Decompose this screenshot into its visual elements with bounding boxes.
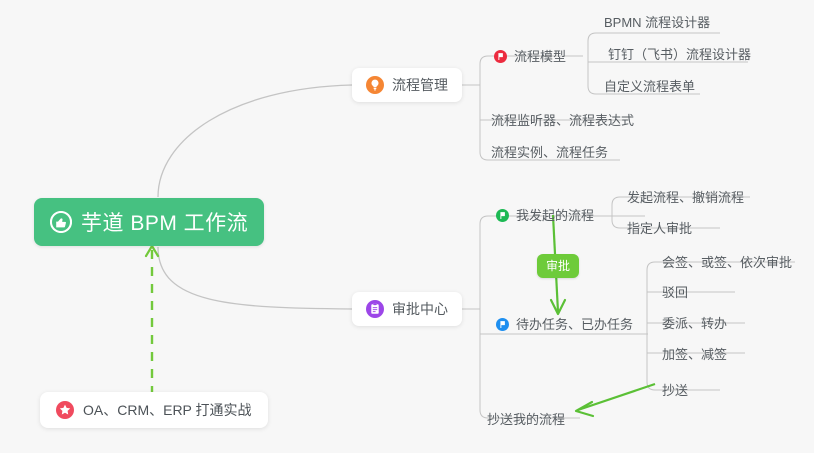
node-cc[interactable]: 抄送 bbox=[662, 380, 688, 400]
node-bpmn-designer[interactable]: BPMN 流程设计器 bbox=[604, 12, 710, 32]
branch-process-management-label: 流程管理 bbox=[392, 75, 448, 95]
node-my-initiated-processes[interactable]: 我发起的流程 bbox=[496, 205, 594, 225]
node-add-remove-signers[interactable]: 加签、减签 bbox=[662, 344, 727, 364]
node-reject[interactable]: 驳回 bbox=[662, 282, 688, 302]
node-delegate-transfer[interactable]: 委派、转办 bbox=[662, 313, 727, 333]
node-listener-expression[interactable]: 流程监听器、流程表达式 bbox=[491, 110, 634, 130]
node-start-cancel-process-label: 发起流程、撤销流程 bbox=[627, 191, 744, 204]
wire-root-to-process-mgmt bbox=[158, 85, 352, 197]
arrowhead-initiated-to-todo bbox=[551, 300, 565, 314]
node-custom-form-label: 自定义流程表单 bbox=[604, 80, 695, 93]
branch-approval-center-label: 审批中心 bbox=[392, 299, 448, 319]
node-designated-approver[interactable]: 指定人审批 bbox=[627, 218, 692, 238]
wire-todo-spine bbox=[647, 262, 655, 390]
root-node[interactable]: 芋道 BPM 工作流 bbox=[34, 198, 264, 246]
branch-approval-center[interactable]: 审批中心 bbox=[352, 292, 462, 326]
node-instance-task[interactable]: 流程实例、流程任务 bbox=[491, 142, 608, 162]
thumbs-up-icon bbox=[50, 211, 72, 233]
node-todo-done-tasks[interactable]: 待办任务、已办任务 bbox=[496, 314, 633, 334]
node-add-remove-signers-label: 加签、减签 bbox=[662, 348, 727, 361]
root-label: 芋道 BPM 工作流 bbox=[81, 207, 248, 237]
node-bpmn-designer-label: BPMN 流程设计器 bbox=[604, 16, 710, 29]
flag-icon bbox=[494, 50, 507, 63]
node-cc-label: 抄送 bbox=[662, 384, 688, 397]
node-cc-to-me-processes[interactable]: 抄送我的流程 bbox=[487, 409, 565, 429]
branch-process-management[interactable]: 流程管理 bbox=[352, 68, 462, 102]
node-sign-modes-label: 会签、或签、依次审批 bbox=[662, 256, 792, 269]
wire-mine-spine bbox=[612, 197, 620, 228]
lightbulb-icon bbox=[366, 76, 384, 94]
node-cc-to-me-processes-label: 抄送我的流程 bbox=[487, 413, 565, 426]
node-process-model-label: 流程模型 bbox=[514, 50, 566, 63]
node-dingtalk-feishu-designer[interactable]: 钉钉（飞书）流程设计器 bbox=[608, 44, 751, 64]
star-icon bbox=[56, 401, 74, 419]
node-start-cancel-process[interactable]: 发起流程、撤销流程 bbox=[627, 187, 744, 207]
node-listener-expression-label: 流程监听器、流程表达式 bbox=[491, 114, 634, 127]
node-sign-modes[interactable]: 会签、或签、依次审批 bbox=[662, 252, 792, 272]
node-instance-task-label: 流程实例、流程任务 bbox=[491, 146, 608, 159]
arrow-cc-to-cc-mine bbox=[578, 384, 655, 410]
node-my-initiated-processes-label: 我发起的流程 bbox=[516, 209, 594, 222]
mindmap-canvas: 芋道 BPM 工作流 OA、CRM、ERP 打通实战 流程管理 bbox=[0, 0, 814, 453]
arrowhead-note-to-root bbox=[146, 246, 158, 256]
flag-icon bbox=[496, 209, 509, 222]
wire-model-spine bbox=[588, 33, 596, 94]
node-todo-done-tasks-label: 待办任务、已办任务 bbox=[516, 318, 633, 331]
note-card-integration[interactable]: OA、CRM、ERP 打通实战 bbox=[40, 392, 268, 428]
clipboard-icon bbox=[366, 300, 384, 318]
node-custom-form[interactable]: 自定义流程表单 bbox=[604, 76, 695, 96]
node-dingtalk-feishu-designer-label: 钉钉（飞书）流程设计器 bbox=[608, 48, 751, 61]
flag-icon bbox=[496, 318, 509, 331]
node-reject-label: 驳回 bbox=[662, 286, 688, 299]
node-designated-approver-label: 指定人审批 bbox=[627, 222, 692, 235]
arrowhead-cc-to-cc-mine bbox=[576, 402, 593, 416]
node-delegate-transfer-label: 委派、转办 bbox=[662, 317, 727, 330]
annotation-tag-approval[interactable]: 审批 bbox=[537, 254, 579, 278]
node-process-model[interactable]: 流程模型 bbox=[494, 46, 566, 66]
wire-root-to-approval-center bbox=[158, 247, 352, 309]
note-card-label: OA、CRM、ERP 打通实战 bbox=[83, 400, 252, 420]
